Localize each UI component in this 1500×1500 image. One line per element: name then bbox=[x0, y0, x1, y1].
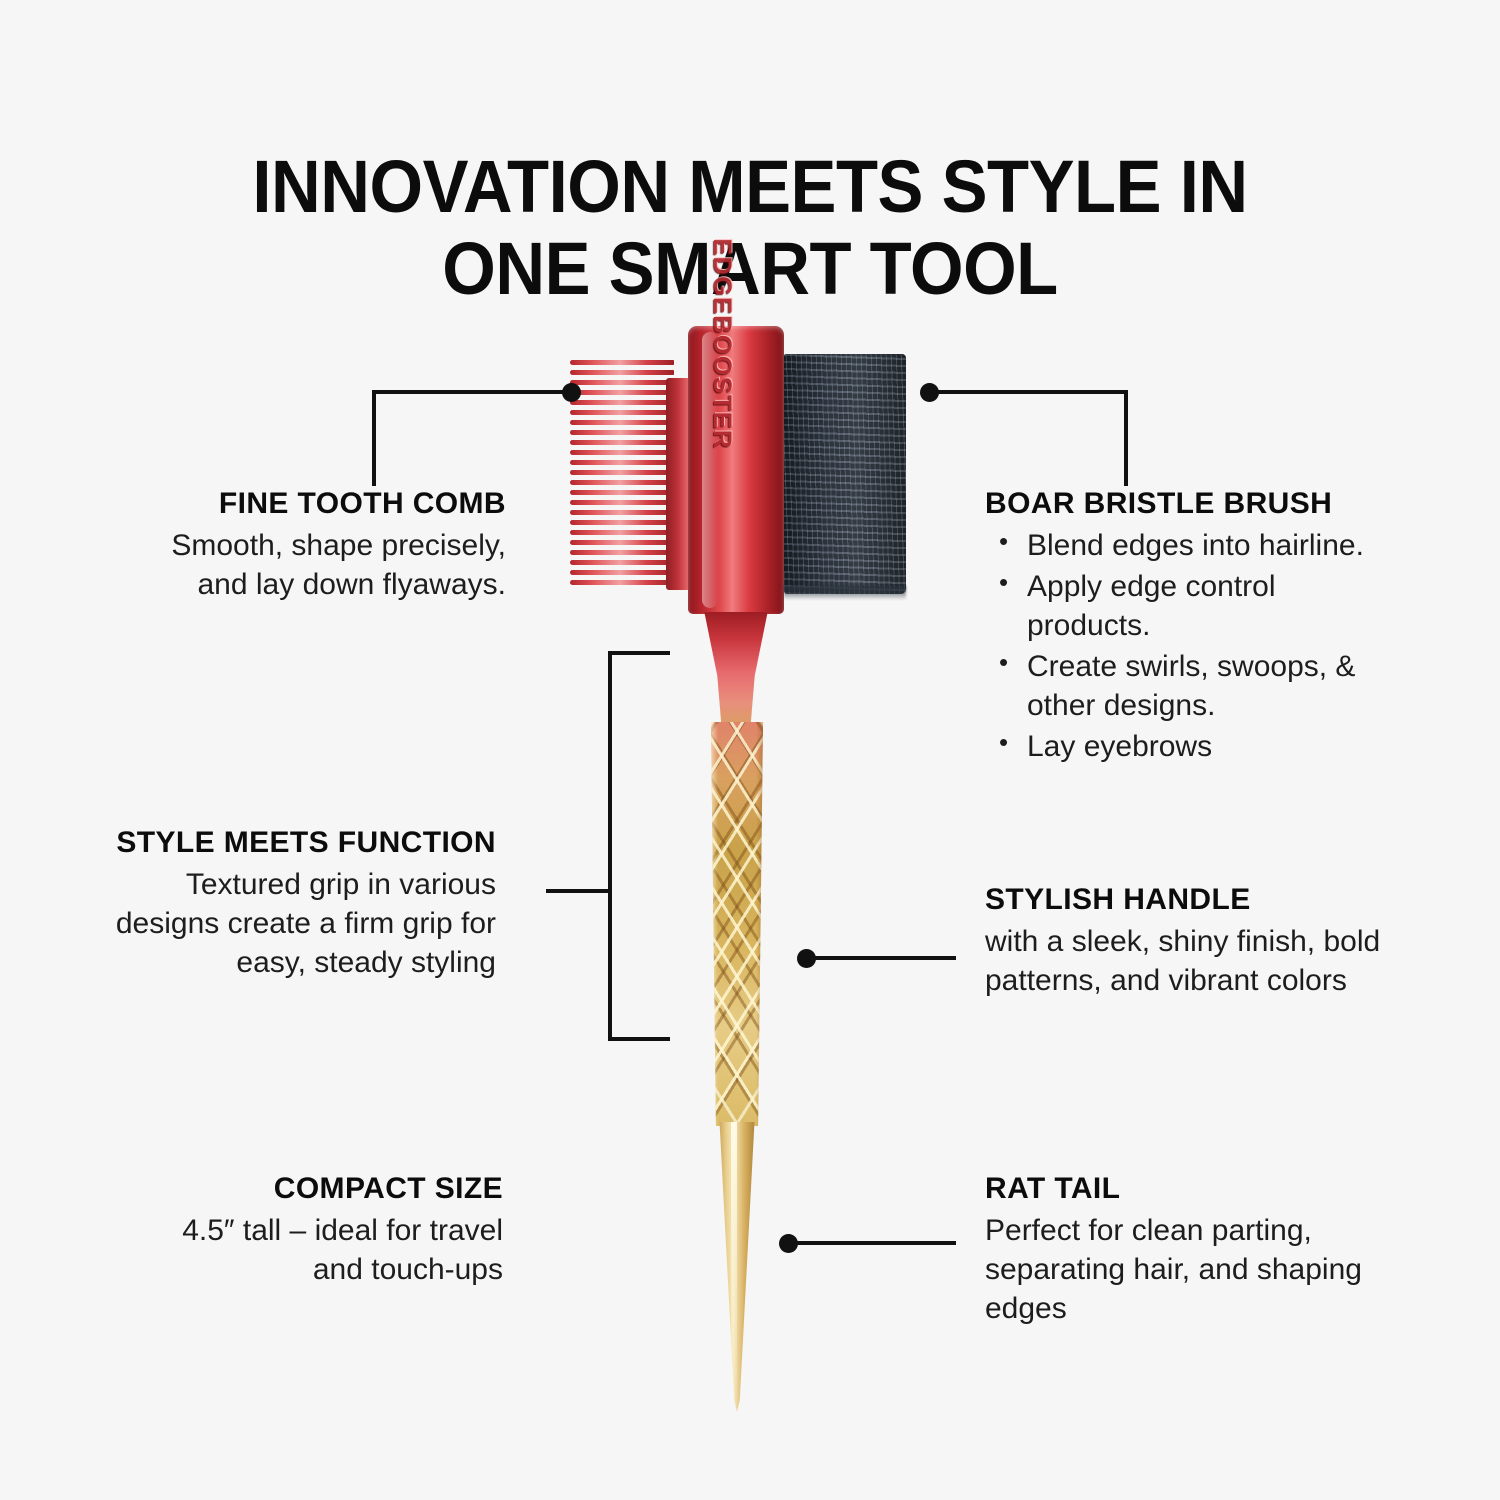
bullet-item: Blend edges into hairline. bbox=[985, 526, 1405, 565]
leader-line-stylish-handle bbox=[806, 956, 956, 960]
leader-line-fine-tooth-comb-horizontal bbox=[372, 390, 568, 394]
tail-highlight bbox=[731, 1122, 737, 1412]
callout-bullet-list-boar-bristle-brush: Blend edges into hairline. Apply edge co… bbox=[985, 526, 1405, 766]
callout-heading-compact-size: COMPACT SIZE bbox=[175, 1172, 503, 1206]
callout-compact-size: COMPACT SIZE 4.5″ tall – ideal for trave… bbox=[175, 1172, 503, 1289]
page-title-line-2: ONE SMART TOOL bbox=[53, 228, 1448, 311]
handle-neck bbox=[700, 612, 772, 728]
leader-line-boar-bristle-horizontal bbox=[929, 390, 1128, 394]
fine-tooth-comb-part bbox=[570, 358, 682, 592]
brand-logo: EDGEBOOSTER bbox=[707, 239, 736, 450]
bristle-tips bbox=[784, 586, 906, 600]
bullet-item: Lay eyebrows bbox=[985, 727, 1405, 766]
callout-heading-boar-bristle-brush: BOAR BRISTLE BRUSH bbox=[985, 487, 1405, 521]
callout-heading-rat-tail: RAT TAIL bbox=[985, 1172, 1375, 1206]
infographic-canvas: INNOVATION MEETS STYLE IN ONE SMART TOOL bbox=[0, 0, 1500, 1500]
handle-edge-left bbox=[709, 722, 718, 1126]
callout-rat-tail: RAT TAIL Perfect for clean parting, sepa… bbox=[985, 1172, 1375, 1328]
callout-body-stylish-handle: with a sleek, shiny finish, bold pattern… bbox=[985, 922, 1385, 1000]
bracket-style-meets-function-top bbox=[608, 651, 670, 655]
callout-body-rat-tail: Perfect for clean parting, separating ha… bbox=[985, 1211, 1375, 1328]
callout-body-fine-tooth-comb: Smooth, shape precisely, and lay down fl… bbox=[130, 526, 506, 604]
page-title-line-1: INNOVATION MEETS STYLE IN bbox=[252, 145, 1247, 228]
bracket-style-meets-function-bottom bbox=[608, 1037, 670, 1041]
rat-tail-part bbox=[714, 1122, 760, 1412]
bullet-item: Create swirls, swoops, & other designs. bbox=[985, 647, 1405, 725]
bracket-style-meets-function-spine bbox=[608, 651, 612, 1041]
bullet-item: Apply edge control products. bbox=[985, 567, 1405, 645]
callout-body-style-meets-function: Textured grip in various designs create … bbox=[90, 865, 496, 982]
product-image: EDGEBOOSTER bbox=[570, 326, 935, 1416]
leader-line-rat-tail bbox=[788, 1241, 956, 1245]
callout-fine-tooth-comb: FINE TOOTH COMB Smooth, shape precisely,… bbox=[130, 487, 506, 604]
bracket-style-meets-function-stem bbox=[546, 889, 610, 893]
callout-heading-style-meets-function: STYLE MEETS FUNCTION bbox=[90, 826, 496, 860]
leader-line-fine-tooth-comb-vertical bbox=[372, 390, 376, 486]
boar-bristle-part bbox=[784, 354, 906, 594]
callout-heading-stylish-handle: STYLISH HANDLE bbox=[985, 883, 1385, 917]
product-body: EDGEBOOSTER bbox=[688, 326, 784, 614]
callout-body-compact-size: 4.5″ tall – ideal for travel and touch-u… bbox=[175, 1211, 503, 1289]
page-title: INNOVATION MEETS STYLE IN ONE SMART TOOL bbox=[53, 146, 1448, 312]
callout-heading-fine-tooth-comb: FINE TOOTH COMB bbox=[130, 487, 506, 521]
handle-edge-right bbox=[756, 722, 765, 1126]
leader-line-boar-bristle-vertical bbox=[1124, 390, 1128, 486]
textured-grip-handle bbox=[706, 722, 768, 1126]
callout-boar-bristle-brush: BOAR BRISTLE BRUSH Blend edges into hair… bbox=[985, 487, 1405, 768]
callout-style-meets-function: STYLE MEETS FUNCTION Textured grip in va… bbox=[90, 826, 496, 982]
callout-stylish-handle: STYLISH HANDLE with a sleek, shiny finis… bbox=[985, 883, 1385, 1000]
